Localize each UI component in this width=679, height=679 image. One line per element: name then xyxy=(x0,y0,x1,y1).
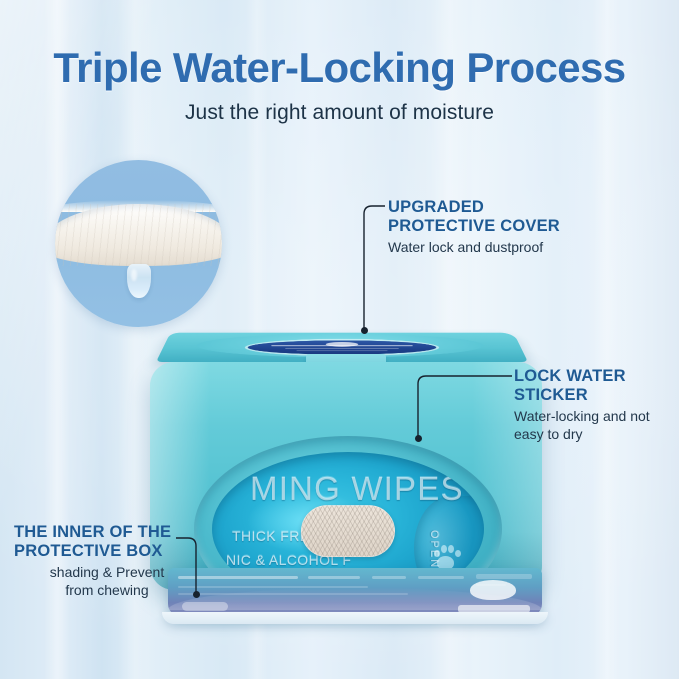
leader-dot-cover xyxy=(361,327,368,334)
callout-upgraded-protective-cover: UPGRADED PROTECTIVE COVER Water lock and… xyxy=(388,198,618,256)
callout-title-line2: STICKER xyxy=(514,386,674,405)
label-text-line xyxy=(308,576,360,579)
water-droplet-icon xyxy=(127,264,151,298)
wipes-container-product: MING WIPES NA THICK FRESH WIPES NIC & AL… xyxy=(150,300,550,630)
wipe-fabric xyxy=(55,204,222,266)
container-bottom-lip xyxy=(162,612,548,624)
callout-title-line1: UPGRADED xyxy=(388,198,618,217)
callout-inner-of-protective-box: THE INNER OF THE PROTECTIVE BOX shading … xyxy=(14,523,200,599)
sticker-text-line xyxy=(271,345,414,346)
page-subtitle: Just the right amount of moisture xyxy=(0,101,679,125)
embossed-brand-text: MING WIPES NA xyxy=(250,470,484,508)
lid-brand-sticker xyxy=(246,340,438,354)
label-text-line xyxy=(178,593,408,595)
page-title: Triple Water-Locking Process xyxy=(0,44,679,92)
label-text-line xyxy=(178,586,368,588)
infographic-canvas: Triple Water-Locking Process Just the ri… xyxy=(0,0,679,679)
cat-logo-icon xyxy=(470,580,516,600)
oval-recess-outer: MING WIPES NA THICK FRESH WIPES NIC & AL… xyxy=(194,436,502,590)
paw-toe xyxy=(441,545,447,553)
sticker-text-line xyxy=(285,348,399,349)
product-info-label-strip xyxy=(168,568,542,616)
paw-toe xyxy=(448,545,454,553)
callout-subtitle-line1: shading & Prevent xyxy=(14,563,200,581)
paw-toe xyxy=(455,550,461,557)
callout-lock-water-sticker: LOCK WATER STICKER Water-locking and not… xyxy=(514,367,674,443)
leader-dot-sticker xyxy=(415,435,422,442)
lock-water-sticker-patch[interactable] xyxy=(301,505,395,557)
callout-title-line2: PROTECTIVE COVER xyxy=(388,217,618,236)
callout-subtitle-line2: easy to dry xyxy=(514,425,674,443)
wipe-fiber-texture xyxy=(55,204,222,266)
label-badge xyxy=(182,602,228,611)
container-body: MING WIPES NA THICK FRESH WIPES NIC & AL… xyxy=(150,362,542,590)
callout-subtitle-line1: Water-locking and not xyxy=(514,407,674,425)
callout-title-line1: LOCK WATER xyxy=(514,367,674,386)
brand-logo xyxy=(458,579,530,613)
sticker-text-line xyxy=(296,350,387,351)
callout-subtitle-line2: from chewing xyxy=(14,581,200,599)
embossed-brand-main: MING WIPES xyxy=(250,470,464,507)
paw-toe xyxy=(434,550,440,557)
callout-title-line2: PROTECTIVE BOX xyxy=(14,542,200,561)
callout-title-line1: THE INNER OF THE xyxy=(14,523,200,542)
callout-subtitle: Water lock and dustproof xyxy=(388,238,618,256)
label-text-line xyxy=(372,576,406,579)
embossed-brand-suffix: NA xyxy=(474,485,484,504)
